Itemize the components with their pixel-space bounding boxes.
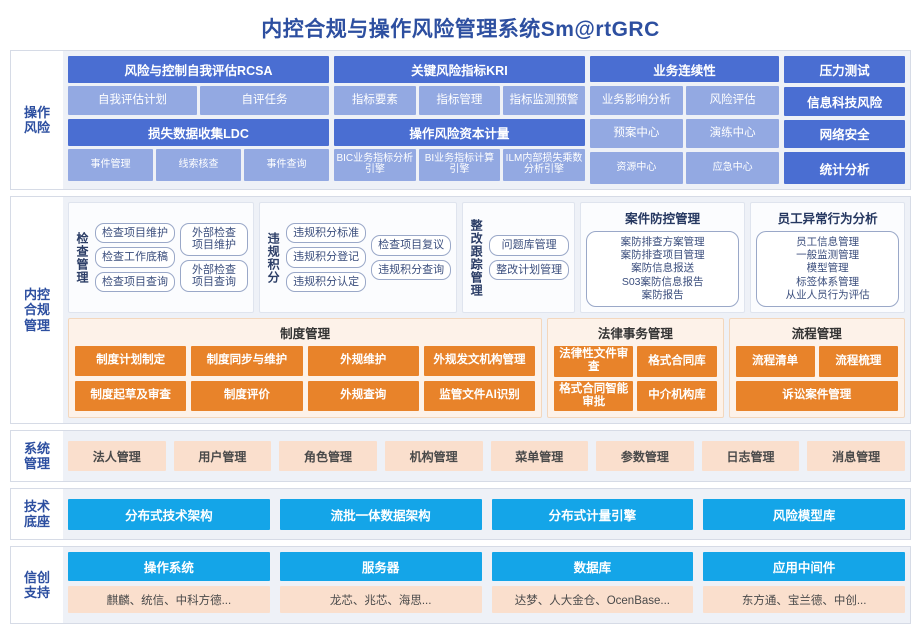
value-server-vendors: 龙芯、兆芯、海思... bbox=[280, 586, 482, 613]
group-header-rcsa[interactable]: 风险与控制自我评估RCSA bbox=[68, 56, 329, 83]
card-rectification-tracking: 整改跟踪管理 问题库管理 整改计划管理 bbox=[462, 202, 575, 313]
group-kri: 关键风险指标KRI 指标要素 指标管理 指标监测预警 bbox=[334, 56, 585, 115]
button-bi-engine[interactable]: BI业务指标计算引擎 bbox=[419, 149, 501, 181]
xinchuang-column-server: 服务器 龙芯、兆芯、海思... bbox=[280, 552, 482, 618]
xinchuang-column-database: 数据库 达梦、人大金仓、OcenBase... bbox=[492, 552, 694, 618]
label-line: 风险 bbox=[24, 120, 50, 135]
label-line: 合规 bbox=[24, 302, 50, 317]
page-root: 内控合规与操作风险管理系统Sm@rtGRC 操作 风险 风险与控制自我评估RCS… bbox=[0, 0, 921, 640]
section-label-system-management: 系统 管理 bbox=[11, 431, 63, 481]
pill-external-inspection-query[interactable]: 外部检查项目查询 bbox=[180, 260, 248, 293]
bc-subs-row-1: 业务影响分析 风险评估 bbox=[590, 86, 779, 115]
button-external-rule-maintain[interactable]: 外规维护 bbox=[308, 346, 419, 376]
list-item[interactable]: S03案防信息报告 bbox=[622, 276, 704, 289]
header-database[interactable]: 数据库 bbox=[492, 552, 694, 581]
button-indicator-management[interactable]: 指标管理 bbox=[419, 86, 501, 115]
pill-rectification-plan-management[interactable]: 整改计划管理 bbox=[489, 260, 569, 280]
policy-management-grid: 制度计划制定 制度同步与维护 外规维护 外规发文机构管理 制度起草及审查 制度评… bbox=[75, 346, 535, 411]
header-application-middleware[interactable]: 应用中间件 bbox=[703, 552, 905, 581]
violation-col-b: 检查项目复议 违规积分查询 bbox=[371, 235, 451, 280]
op-column-4: 压力测试 信息科技风险 网络安全 统计分析 bbox=[784, 56, 905, 184]
button-standard-contract-library[interactable]: 格式合同库 bbox=[637, 346, 716, 376]
section-system-management: 系统 管理 法人管理 用户管理 角色管理 机构管理 菜单管理 参数管理 日志管理… bbox=[10, 430, 911, 482]
system-management-body: 法人管理 用户管理 角色管理 机构管理 菜单管理 参数管理 日志管理 消息管理 bbox=[63, 431, 910, 481]
card-vertical-label-rectification: 整改跟踪管理 bbox=[468, 219, 484, 297]
card-process-management: 流程管理 流程清单 流程梳理 诉讼案件管理 bbox=[729, 318, 905, 418]
card-title-process-management: 流程管理 bbox=[736, 323, 898, 342]
button-policy-sync-maintain[interactable]: 制度同步与维护 bbox=[191, 346, 302, 376]
card-violation-points: 违规积分 违规积分标准 违规积分登记 违规积分认定 检查项目复议 违规积分查询 bbox=[259, 202, 457, 313]
op-column-3: 业务连续性 业务影响分析 风险评估 预案中心 演练中心 资源中心 应急中心 bbox=[590, 56, 779, 184]
button-network-security[interactable]: 网络安全 bbox=[784, 120, 905, 149]
button-external-rule-issuer-management[interactable]: 外规发文机构管理 bbox=[424, 346, 535, 376]
legal-affairs-grid: 法律性文件审查 格式合同库 格式合同智能审批 中介机构库 bbox=[554, 346, 716, 411]
label-line: 操作 bbox=[24, 105, 50, 120]
value-database-vendors: 达梦、人大金仓、OcenBase... bbox=[492, 586, 694, 613]
rectification-col: 问题库管理 整改计划管理 bbox=[489, 235, 569, 280]
button-regulatory-doc-ai-recognition[interactable]: 监管文件AI识别 bbox=[424, 381, 535, 411]
internal-control-top-row: 检查管理 检查项目维护 检查工作底稿 检查项目查询 外部检查项目维护 外部检查项… bbox=[68, 202, 905, 313]
card-title-legal-affairs: 法律事务管理 bbox=[554, 323, 716, 342]
card-case-prevention: 案件防控管理 案防排查方案管理 案防排查项目管理 案防信息报送 S03案防信息报… bbox=[580, 202, 745, 313]
button-bic-engine[interactable]: BIC业务指标分析引擎 bbox=[334, 149, 416, 181]
button-statistical-analysis[interactable]: 统计分析 bbox=[784, 152, 905, 184]
bc-subs-row-2: 预案中心 演练中心 bbox=[590, 119, 779, 148]
button-user-management[interactable]: 用户管理 bbox=[174, 441, 272, 471]
button-ilm-engine[interactable]: ILM内部损失乘数分析引擎 bbox=[503, 149, 585, 181]
header-server[interactable]: 服务器 bbox=[280, 552, 482, 581]
group-or-capital: 操作风险资本计量 BIC业务指标分析引擎 BI业务指标计算引擎 ILM内部损失乘… bbox=[334, 119, 585, 181]
process-management-grid: 流程清单 流程梳理 诉讼案件管理 bbox=[736, 346, 898, 411]
card-policy-management: 制度管理 制度计划制定 制度同步与维护 外规维护 外规发文机构管理 制度起草及审… bbox=[68, 318, 542, 418]
button-litigation-case-management[interactable]: 诉讼案件管理 bbox=[736, 381, 898, 411]
button-message-management[interactable]: 消息管理 bbox=[807, 441, 905, 471]
label-line: 支持 bbox=[24, 585, 50, 600]
list-item[interactable]: 员工信息管理 bbox=[796, 236, 859, 249]
xinchuang-column-os: 操作系统 麒麟、统信、中科方德... bbox=[68, 552, 270, 618]
page-title: 内控合规与操作风险管理系统Sm@rtGRC bbox=[261, 13, 660, 43]
pill-violation-register[interactable]: 违规积分登记 bbox=[286, 247, 366, 267]
list-item[interactable]: 案防信息报送 bbox=[631, 262, 694, 275]
pill-violation-query[interactable]: 违规积分查询 bbox=[371, 260, 451, 280]
group-rcsa: 风险与控制自我评估RCSA 自我评估计划 自评任务 bbox=[68, 56, 329, 115]
group-header-or-capital[interactable]: 操作风险资本计量 bbox=[334, 119, 585, 146]
section-tech-base: 技术 底座 分布式技术架构 流批一体数据架构 分布式计量引擎 风险模型库 bbox=[10, 488, 911, 540]
button-business-impact-analysis[interactable]: 业务影响分析 bbox=[590, 86, 683, 115]
button-policy-evaluation[interactable]: 制度评价 bbox=[191, 381, 302, 411]
list-case-prevention-items[interactable]: 案防排查方案管理 案防排查项目管理 案防信息报送 S03案防信息报告 案防报告 bbox=[586, 231, 739, 307]
list-item[interactable]: 从业人员行为评估 bbox=[786, 289, 870, 302]
list-item[interactable]: 案防排查项目管理 bbox=[621, 249, 705, 262]
button-indicator-monitoring-alert[interactable]: 指标监测预警 bbox=[503, 86, 585, 115]
card-title-case-prevention: 案件防控管理 bbox=[586, 208, 739, 227]
list-item[interactable]: 模型管理 bbox=[807, 262, 849, 275]
section-label-internal-control: 内控 合规 管理 bbox=[11, 197, 63, 423]
internal-control-bottom-row: 制度管理 制度计划制定 制度同步与维护 外规维护 外规发文机构管理 制度起草及审… bbox=[68, 318, 905, 418]
label-line: 底座 bbox=[24, 514, 50, 529]
group-header-ldc[interactable]: 损失数据收集LDC bbox=[68, 119, 329, 146]
card-title-employee-behavior: 员工异常行为分析 bbox=[756, 208, 899, 227]
card-vertical-label-inspection: 检查管理 bbox=[74, 232, 90, 284]
label-line: 技术 bbox=[24, 499, 50, 514]
list-employee-behavior-items[interactable]: 员工信息管理 一般监测管理 模型管理 标签体系管理 从业人员行为评估 bbox=[756, 231, 899, 307]
button-process-combing[interactable]: 流程梳理 bbox=[819, 346, 898, 376]
button-policy-plan[interactable]: 制度计划制定 bbox=[75, 346, 186, 376]
op-column-2: 关键风险指标KRI 指标要素 指标管理 指标监测预警 操作风险资本计量 BIC业… bbox=[334, 56, 585, 184]
button-indicator-elements[interactable]: 指标要素 bbox=[334, 86, 416, 115]
button-legal-entity-management[interactable]: 法人管理 bbox=[68, 441, 166, 471]
group-header-business-continuity[interactable]: 业务连续性 bbox=[590, 56, 779, 82]
tech-base-body: 分布式技术架构 流批一体数据架构 分布式计量引擎 风险模型库 bbox=[63, 489, 910, 539]
button-drill-center[interactable]: 演练中心 bbox=[686, 119, 779, 148]
section-label-operational-risk: 操作 风险 bbox=[11, 51, 63, 189]
list-item[interactable]: 案防排查方案管理 bbox=[621, 236, 705, 249]
button-plan-center[interactable]: 预案中心 bbox=[590, 119, 683, 148]
group-subs-ldc: 事件管理 线索核查 事件查询 bbox=[68, 149, 329, 181]
button-resource-center[interactable]: 资源中心 bbox=[590, 152, 683, 184]
section-xinchuang-support: 信创 支持 操作系统 麒麟、统信、中科方德... 服务器 龙芯、兆芯、海思...… bbox=[10, 546, 911, 624]
button-role-management[interactable]: 角色管理 bbox=[279, 441, 377, 471]
card-employee-abnormal-behavior: 员工异常行为分析 员工信息管理 一般监测管理 模型管理 标签体系管理 从业人员行… bbox=[750, 202, 905, 313]
button-process-list[interactable]: 流程清单 bbox=[736, 346, 815, 376]
button-self-assessment-plan[interactable]: 自我评估计划 bbox=[68, 86, 197, 115]
label-line: 系统 bbox=[24, 441, 50, 456]
button-it-risk[interactable]: 信息科技风险 bbox=[784, 87, 905, 116]
pill-violation-confirm[interactable]: 违规积分认定 bbox=[286, 272, 366, 292]
op-column-1: 风险与控制自我评估RCSA 自我评估计划 自评任务 损失数据收集LDC 事件管理… bbox=[68, 56, 329, 184]
xinchuang-column-middleware: 应用中间件 东方通、宝兰德、中创... bbox=[703, 552, 905, 618]
page-title-bar: 内控合规与操作风险管理系统Sm@rtGRC bbox=[10, 6, 911, 50]
group-header-kri[interactable]: 关键风险指标KRI bbox=[334, 56, 585, 83]
button-legal-doc-review[interactable]: 法律性文件审查 bbox=[554, 346, 633, 376]
bc-subs-row-3: 资源中心 应急中心 bbox=[590, 152, 779, 184]
internal-control-body: 检查管理 检查项目维护 检查工作底稿 检查项目查询 外部检查项目维护 外部检查项… bbox=[63, 197, 910, 423]
pill-inspection-item-maintain[interactable]: 检查项目维护 bbox=[95, 223, 175, 243]
list-item[interactable]: 案防报告 bbox=[642, 289, 684, 302]
button-stress-test[interactable]: 压力测试 bbox=[784, 56, 905, 83]
label-line: 信创 bbox=[24, 570, 50, 585]
operational-risk-body: 风险与控制自我评估RCSA 自我评估计划 自评任务 损失数据收集LDC 事件管理… bbox=[63, 51, 910, 189]
pill-issue-library-management[interactable]: 问题库管理 bbox=[489, 235, 569, 255]
button-event-management[interactable]: 事件管理 bbox=[68, 149, 153, 181]
button-distributed-tech-architecture[interactable]: 分布式技术架构 bbox=[68, 499, 270, 530]
inspection-col-b: 外部检查项目维护 外部检查项目查询 bbox=[180, 223, 248, 292]
group-subs-or-capital: BIC业务指标分析引擎 BI业务指标计算引擎 ILM内部损失乘数分析引擎 bbox=[334, 149, 585, 181]
label-line: 管理 bbox=[24, 318, 50, 333]
value-operating-system-vendors: 麒麟、统信、中科方德... bbox=[68, 586, 270, 613]
card-title-policy-management: 制度管理 bbox=[75, 323, 535, 342]
card-vertical-label-violation: 违规积分 bbox=[265, 232, 281, 284]
group-ldc: 损失数据收集LDC 事件管理 线索核查 事件查询 bbox=[68, 119, 329, 181]
pill-violation-standard[interactable]: 违规积分标准 bbox=[286, 223, 366, 243]
inspection-col-a: 检查项目维护 检查工作底稿 检查项目查询 bbox=[95, 223, 175, 292]
button-log-management[interactable]: 日志管理 bbox=[702, 441, 800, 471]
header-operating-system[interactable]: 操作系统 bbox=[68, 552, 270, 581]
button-emergency-center[interactable]: 应急中心 bbox=[686, 152, 779, 184]
pill-inspection-item-query[interactable]: 检查项目查询 bbox=[95, 272, 175, 292]
xinchuang-body: 操作系统 麒麟、统信、中科方德... 服务器 龙芯、兆芯、海思... 数据库 达… bbox=[63, 547, 910, 623]
button-intermediary-library[interactable]: 中介机构库 bbox=[637, 381, 716, 411]
group-subs-rcsa: 自我评估计划 自评任务 bbox=[68, 86, 329, 115]
button-policy-draft-review[interactable]: 制度起草及审查 bbox=[75, 381, 186, 411]
label-line: 管理 bbox=[24, 456, 50, 471]
pill-inspection-item-review[interactable]: 检查项目复议 bbox=[371, 235, 451, 255]
label-line: 内控 bbox=[24, 287, 50, 302]
button-clue-verification[interactable]: 线索核查 bbox=[156, 149, 241, 181]
button-org-management[interactable]: 机构管理 bbox=[385, 441, 483, 471]
button-risk-model-library[interactable]: 风险模型库 bbox=[703, 499, 905, 530]
button-menu-management[interactable]: 菜单管理 bbox=[491, 441, 589, 471]
list-item[interactable]: 标签体系管理 bbox=[796, 276, 859, 289]
card-legal-affairs: 法律事务管理 法律性文件审查 格式合同库 格式合同智能审批 中介机构库 bbox=[547, 318, 723, 418]
section-label-xinchuang-support: 信创 支持 bbox=[11, 547, 63, 623]
group-subs-kri: 指标要素 指标管理 指标监测预警 bbox=[334, 86, 585, 115]
violation-col-a: 违规积分标准 违规积分登记 违规积分认定 bbox=[286, 223, 366, 292]
button-standard-contract-ai-approval[interactable]: 格式合同智能审批 bbox=[554, 381, 633, 411]
list-item[interactable]: 一般监测管理 bbox=[796, 249, 859, 262]
button-self-assessment-task[interactable]: 自评任务 bbox=[200, 86, 329, 115]
button-risk-assessment[interactable]: 风险评估 bbox=[686, 86, 779, 115]
section-label-tech-base: 技术 底座 bbox=[11, 489, 63, 539]
pill-inspection-workpaper[interactable]: 检查工作底稿 bbox=[95, 247, 175, 267]
pill-external-inspection-maintain[interactable]: 外部检查项目维护 bbox=[180, 223, 248, 256]
button-parameter-management[interactable]: 参数管理 bbox=[596, 441, 694, 471]
button-external-rule-query[interactable]: 外规查询 bbox=[308, 381, 419, 411]
button-stream-batch-data-architecture[interactable]: 流批一体数据架构 bbox=[280, 499, 482, 530]
button-event-query[interactable]: 事件查询 bbox=[244, 149, 329, 181]
value-middleware-vendors: 东方通、宝兰德、中创... bbox=[703, 586, 905, 613]
section-operational-risk: 操作 风险 风险与控制自我评估RCSA 自我评估计划 自评任务 损失数据收集LD… bbox=[10, 50, 911, 190]
section-internal-control: 内控 合规 管理 检查管理 检查项目维护 检查工作底稿 检查项目查询 外部检查项… bbox=[10, 196, 911, 424]
button-distributed-measurement-engine[interactable]: 分布式计量引擎 bbox=[492, 499, 694, 530]
card-inspection-management: 检查管理 检查项目维护 检查工作底稿 检查项目查询 外部检查项目维护 外部检查项… bbox=[68, 202, 254, 313]
